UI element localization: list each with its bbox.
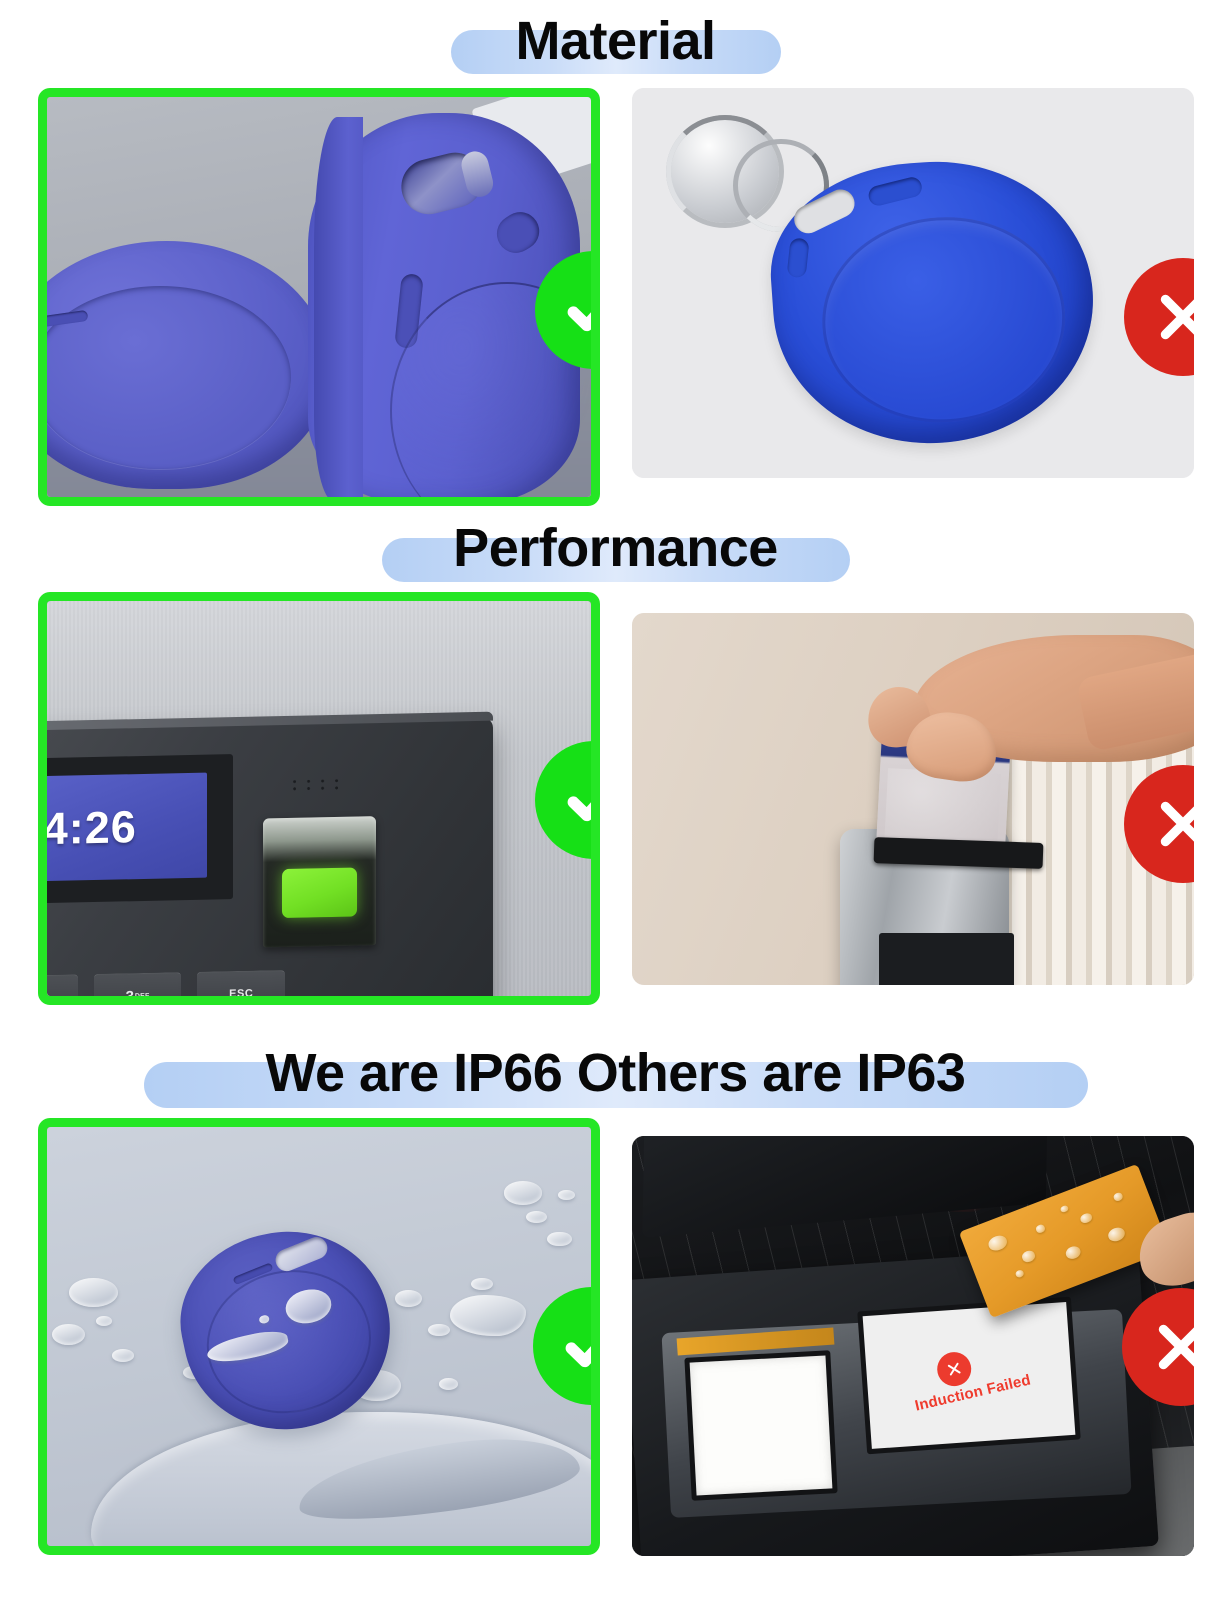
water-droplet bbox=[1060, 1204, 1069, 1213]
performance-bad-image bbox=[632, 613, 1194, 985]
keyfob-nub-side bbox=[786, 238, 809, 279]
water-droplet bbox=[504, 1181, 542, 1204]
reader-screen: Induction Failed bbox=[858, 1297, 1081, 1454]
keyfob-keyring-hole bbox=[395, 147, 487, 220]
keyfob-hole bbox=[273, 1233, 331, 1273]
fingerprint-sensor-well bbox=[263, 816, 375, 948]
water-droplet bbox=[1015, 1269, 1024, 1278]
keyfob-rim bbox=[314, 117, 363, 497]
keyfob-face bbox=[815, 209, 1072, 430]
key-digit: ESC bbox=[229, 988, 253, 996]
speaker-grille bbox=[289, 777, 345, 794]
water-droplet bbox=[1106, 1225, 1127, 1243]
keyfob-nub-top bbox=[866, 175, 924, 207]
water-droplet bbox=[986, 1233, 1009, 1254]
water-droplet bbox=[439, 1378, 458, 1390]
keypad-key-2: 2 ABC bbox=[47, 975, 77, 996]
performance-good-image: 14:26 2 ABC 3 DEF bbox=[47, 601, 591, 996]
bad-panel-performance bbox=[632, 613, 1194, 985]
good-panel-ip-rating bbox=[38, 1118, 600, 1555]
good-panel-performance: 14:26 2 ABC 3 DEF bbox=[38, 592, 600, 1005]
water-droplet bbox=[1064, 1244, 1083, 1261]
cross-icon bbox=[934, 1349, 975, 1390]
good-panel-material bbox=[38, 88, 600, 506]
heading-text: Material bbox=[515, 14, 715, 68]
ip-bad-image: Induction Failed bbox=[632, 1136, 1194, 1556]
qr-scanner-window bbox=[685, 1351, 838, 1501]
key-digit: 3 bbox=[125, 988, 133, 996]
screen-content: Induction Failed bbox=[855, 1288, 1083, 1463]
bad-panel-material bbox=[632, 88, 1194, 478]
keyfob-slot bbox=[47, 310, 89, 331]
ip-good-image bbox=[47, 1127, 591, 1546]
water-droplet bbox=[1079, 1211, 1093, 1224]
attendance-terminal: 14:26 2 ABC 3 DEF bbox=[47, 718, 493, 996]
infographic-page: Material bbox=[0, 0, 1231, 1600]
heading-text: We are IP66 Others are IP63 bbox=[266, 1046, 966, 1100]
water-droplet bbox=[112, 1349, 134, 1362]
keyfob-slot-a bbox=[489, 205, 546, 260]
water-droplet bbox=[96, 1316, 112, 1326]
water-droplet bbox=[428, 1324, 450, 1337]
water-droplet bbox=[1035, 1223, 1047, 1233]
device-screen: 14:26 bbox=[47, 773, 207, 882]
reader-front-panel bbox=[879, 933, 1014, 985]
fingerprint-sensor-pad bbox=[282, 868, 356, 919]
heading-text: Performance bbox=[453, 521, 778, 575]
section-heading-material: Material bbox=[0, 6, 1231, 76]
material-bad-image bbox=[632, 88, 1194, 478]
material-good-image bbox=[47, 97, 591, 497]
water-droplet bbox=[52, 1324, 85, 1345]
device-keypad: 2 ABC 3 DEF ESC 5 bbox=[47, 964, 381, 996]
clock-time: 14:26 bbox=[47, 801, 137, 856]
water-droplet bbox=[1021, 1249, 1037, 1263]
key-letters: DEF bbox=[135, 993, 150, 996]
keypad-key-esc: ESC bbox=[197, 970, 285, 996]
water-droplet bbox=[558, 1190, 574, 1200]
bad-panel-ip-rating: Induction Failed bbox=[632, 1136, 1194, 1556]
water-droplet bbox=[1113, 1191, 1125, 1201]
section-heading-performance: Performance bbox=[0, 512, 1231, 584]
section-heading-ip-rating: We are IP66 Others are IP63 bbox=[0, 1036, 1231, 1110]
induction-failed-message: Induction Failed bbox=[914, 1371, 1033, 1414]
keypad-key-3: 3 DEF bbox=[93, 972, 181, 996]
water-droplet bbox=[69, 1278, 118, 1307]
